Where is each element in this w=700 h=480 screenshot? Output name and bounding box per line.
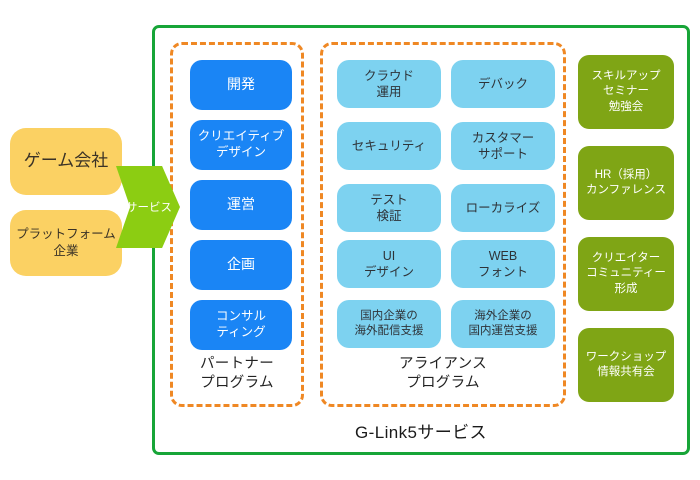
alliance-node-customer-support: カスタマー サポート (451, 122, 555, 170)
alliance-node-debug: デバック (451, 60, 555, 108)
partner-node-consulting: コンサル ティング (190, 300, 292, 350)
partner-node-development: 開発 (190, 60, 292, 110)
alliance-node-overseas-domestic-operation: 海外企業の 国内運営支援 (451, 300, 555, 348)
alliance-node-cloud-operations: クラウド 運用 (337, 60, 441, 108)
community-node-workshop-info-sharing: ワークショップ 情報共有会 (578, 328, 674, 402)
alliance-node-localization: ローカライズ (451, 184, 555, 232)
client-node-game-company: ゲーム会社 (10, 128, 122, 195)
service-arrow-label: サービス (126, 199, 172, 215)
partner-node-planning: 企画 (190, 240, 292, 290)
alliance-node-ui-design: UI デザイン (337, 240, 441, 288)
partner-node-creative-design: クリエイティブ デザイン (190, 120, 292, 170)
partner-program-caption: パートナー プログラム (170, 355, 304, 393)
diagram-canvas: ゲーム会社 プラットフォーム 企業 サービス パートナー プログラム アライアン… (0, 0, 700, 480)
alliance-node-test-verification: テスト 検証 (337, 184, 441, 232)
community-node-skillup-seminar: スキルアップ セミナー 勉強会 (578, 55, 674, 129)
partner-node-operations: 運営 (190, 180, 292, 230)
client-node-platform-company: プラットフォーム 企業 (10, 210, 122, 276)
diagram-title: G-Link5サービス (152, 418, 690, 443)
alliance-program-caption: アライアンス プログラム (320, 355, 566, 393)
alliance-node-web-font: WEB フォント (451, 240, 555, 288)
community-node-hr-conference: HR（採用） カンファレンス (578, 146, 674, 220)
community-node-creator-community: クリエイター コミュニティー 形成 (578, 237, 674, 311)
alliance-node-security: セキュリティ (337, 122, 441, 170)
alliance-node-domestic-overseas-distribution: 国内企業の 海外配信支援 (337, 300, 441, 348)
